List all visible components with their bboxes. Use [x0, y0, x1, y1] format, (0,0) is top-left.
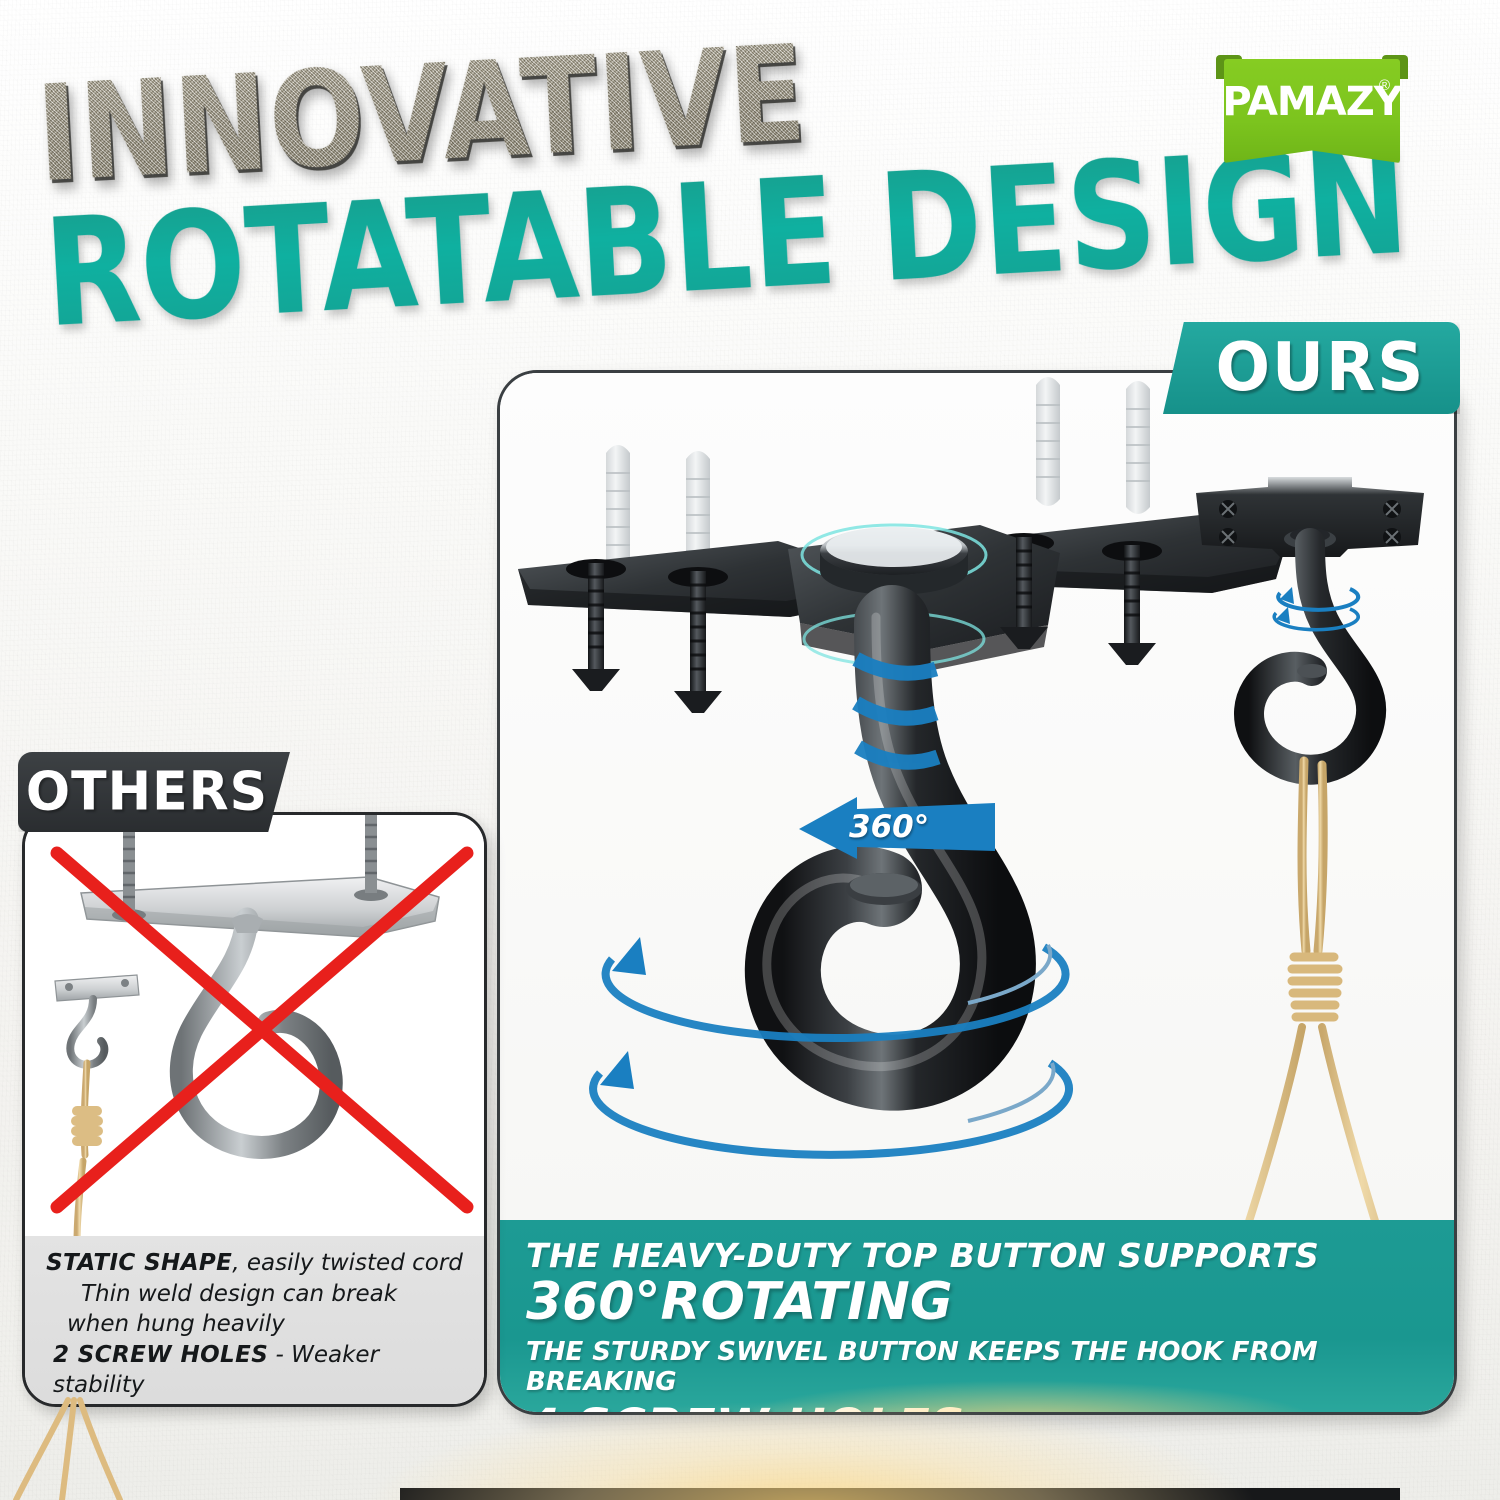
ours-badge: OURS — [1163, 322, 1460, 414]
ours-caption-line-4-strong: 4 SCREW HOLES — [526, 1399, 964, 1415]
others-badge: OTHERS — [18, 752, 290, 832]
others-caption-line-1-strong: STATIC SHAPE — [46, 1250, 232, 1276]
others-product-photo — [25, 815, 484, 1236]
registered-mark: ® — [1379, 77, 1390, 94]
ours-product-photo: 360° — [500, 373, 1454, 1220]
logo-ribbon-icon: PAMAZY x — [1224, 59, 1400, 163]
rotation-360-label: 360° — [849, 809, 929, 845]
others-caption-line-2: Thin weld design can break — [39, 1279, 470, 1310]
macrame-rope-icon — [1202, 761, 1420, 1375]
macrame-rope-icon — [76, 1063, 98, 1243]
ours-caption-line-2: 360°ROTATING — [526, 1276, 1428, 1329]
wall-anchor-icon — [1036, 377, 1150, 514]
ours-caption-line-1: THE HEAVY-DUTY TOP BUTTON SUPPORTS — [526, 1236, 1428, 1275]
others-caption-line-1-rest: , easily twisted cord — [232, 1250, 463, 1276]
ours-caption-line-4: 4 SCREW HOLES- ENHANCE STABILITY — [526, 1399, 1428, 1415]
infographic-canvas: INNOVATIVE ROTATABLE DESIGN PAMAZY x ® — [0, 0, 1500, 1500]
others-caption-line-4: 2 SCREW HOLES - Weaker stability — [39, 1340, 470, 1401]
others-badge-label: OTHERS — [26, 761, 268, 823]
brand-logo: PAMAZY x ® — [1216, 55, 1408, 163]
small-hook-icon — [55, 975, 139, 1065]
hook-icon — [1249, 543, 1371, 770]
others-caption-line-4-strong: 2 SCREW HOLES — [53, 1342, 268, 1368]
others-card: STATIC SHAPE, easily twisted cord Thin w… — [22, 812, 487, 1407]
others-caption-line-3: when hung heavily — [39, 1309, 470, 1340]
others-hook-illustration — [25, 815, 487, 1245]
ours-card: 360° THE HEAVY-DUTY TOP BUTTON SUPPORTS … — [497, 370, 1457, 1415]
screw-icon — [365, 815, 377, 893]
others-caption-panel: STATIC SHAPE, easily twisted cord Thin w… — [25, 1236, 484, 1404]
ours-badge-label: OURS — [1216, 329, 1426, 407]
others-caption-line-4-rest: - Weaker stability — [53, 1342, 379, 1399]
macrame-rope-icon — [10, 1400, 210, 1500]
others-caption-line-1: STATIC SHAPE, easily twisted cord — [39, 1248, 470, 1279]
ours-caption-line-3: THE STURDY SWIVEL BUTTON KEEPS THE HOOK … — [526, 1337, 1428, 1397]
headline-block: INNOVATIVE ROTATABLE DESIGN — [34, 11, 1186, 325]
rotation-360-badge: 360° — [795, 795, 995, 865]
ours-caption-panel: THE HEAVY-DUTY TOP BUTTON SUPPORTS 360°R… — [500, 1220, 1454, 1412]
bottom-bar — [400, 1488, 1400, 1500]
